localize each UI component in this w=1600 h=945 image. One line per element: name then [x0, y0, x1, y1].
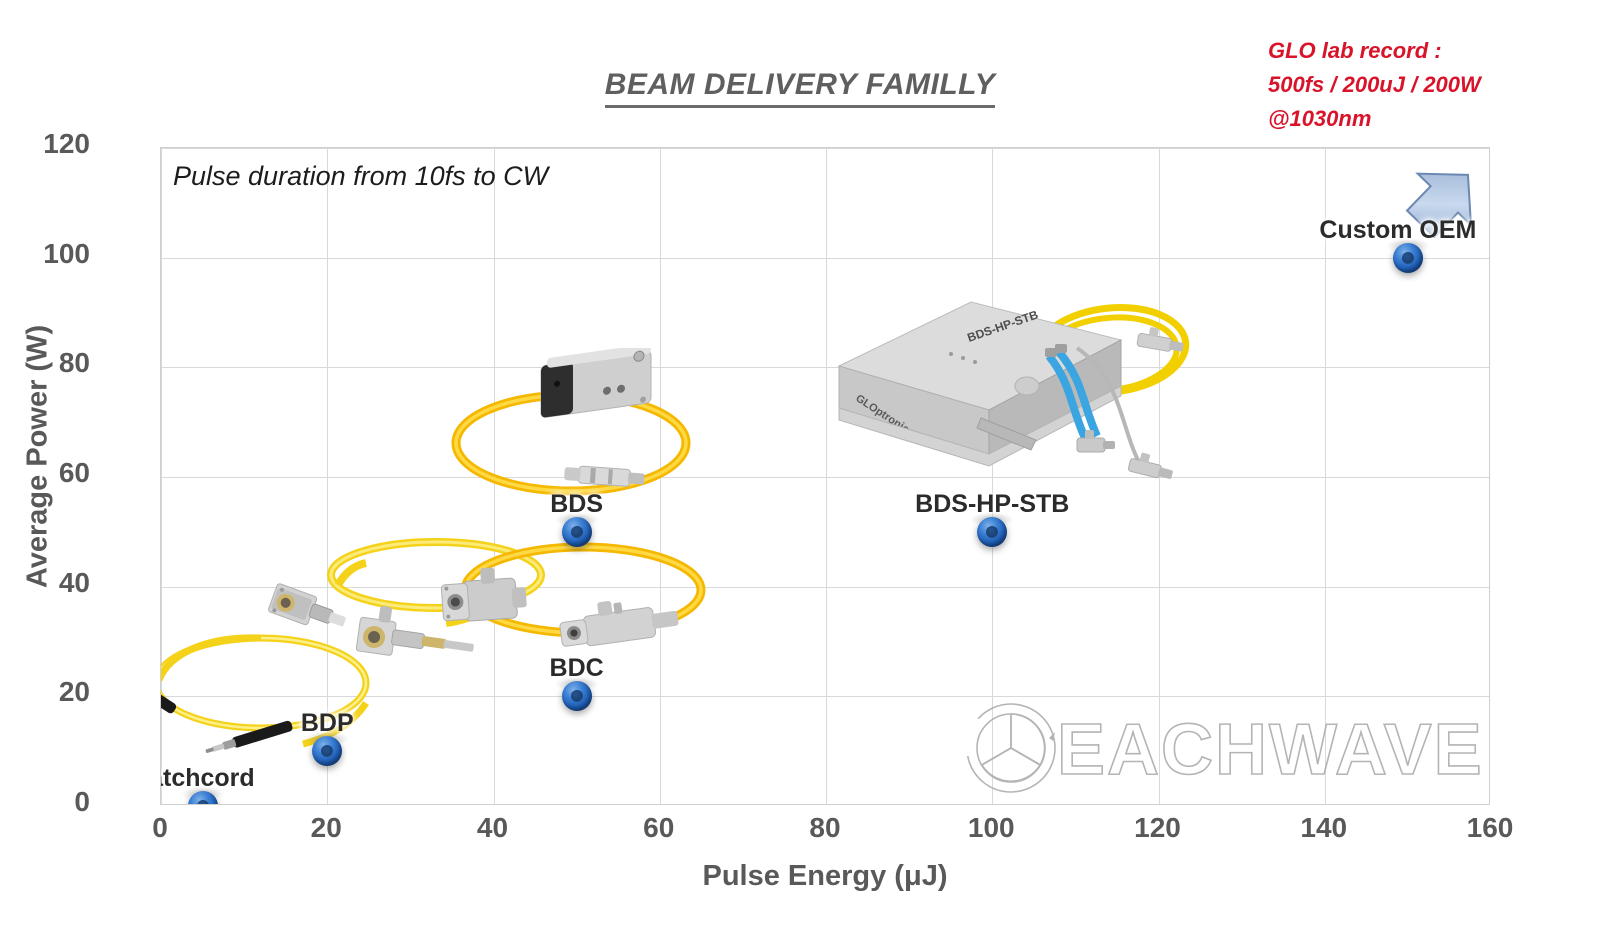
eachwave-watermark-text: EACHWAVE	[1057, 709, 1484, 791]
gridline-horizontal	[161, 148, 1489, 149]
data-point-bds-hp-stb[interactable]	[977, 517, 1007, 547]
x-tick-140: 140	[1279, 812, 1369, 844]
y-tick-40: 40	[10, 567, 90, 599]
data-label-custom-oem: Custom OEM	[1319, 216, 1476, 245]
x-tick-40: 40	[448, 812, 538, 844]
x-tick-160: 160	[1445, 812, 1535, 844]
x-tick-20: 20	[281, 812, 371, 844]
pulse-duration-note: Pulse duration from 10fs to CW	[173, 161, 548, 192]
y-tick-60: 60	[10, 457, 90, 489]
x-axis-title: Pulse Energy (μJ)	[160, 860, 1490, 893]
lab-record-line-3: @1030nm	[1268, 102, 1598, 136]
product-image-bds-hp-stb: BDS-HP-STB GLOptronics	[821, 278, 1221, 498]
y-tick-0: 0	[10, 786, 90, 818]
lab-record-line-2: 500fs / 200uJ / 200W	[1268, 68, 1598, 102]
lab-record-line-1: GLO lab record :	[1268, 34, 1598, 68]
x-tick-100: 100	[946, 812, 1036, 844]
x-tick-60: 60	[614, 812, 704, 844]
growth-arrow-icon	[1366, 147, 1490, 273]
y-tick-120: 120	[10, 128, 90, 160]
data-label-bds-hp-stb: BDS-HP-STB	[915, 490, 1069, 519]
data-point-bds[interactable]	[562, 517, 592, 547]
data-point-bdc[interactable]	[562, 681, 592, 711]
x-tick-0: 0	[115, 812, 205, 844]
x-tick-120: 120	[1113, 812, 1203, 844]
data-label-bdp: BDP	[301, 709, 354, 738]
lab-record-annotation: GLO lab record : 500fs / 200uJ / 200W @1…	[1268, 34, 1598, 136]
data-point-custom-oem[interactable]	[1393, 243, 1423, 273]
data-label-bds: BDS	[550, 490, 603, 519]
page-title-text: BEAM DELIVERY FAMILLY	[605, 68, 996, 108]
gridline-horizontal	[161, 258, 1489, 259]
y-tick-80: 80	[10, 347, 90, 379]
data-label-patchcord: Patchcord	[160, 764, 255, 793]
y-tick-100: 100	[10, 238, 90, 270]
x-tick-80: 80	[780, 812, 870, 844]
eachwave-logo-icon	[961, 698, 1061, 798]
y-tick-20: 20	[10, 676, 90, 708]
plot-area: Pulse duration from 10fs to CW EACHWAVE	[160, 147, 1490, 805]
data-label-bdc: BDC	[550, 654, 604, 683]
eachwave-watermark: EACHWAVE	[961, 693, 1481, 803]
